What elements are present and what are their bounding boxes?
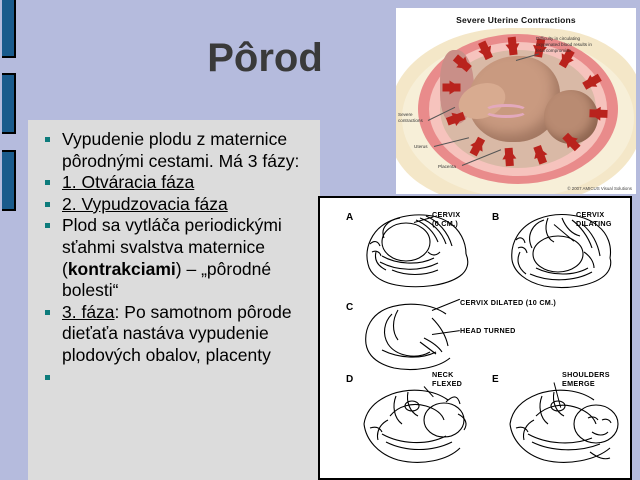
labor-stages-diagram: A CERVIX (0 CM.) B CERVIX DILATING [318,196,632,480]
list-item: Plod sa vytláča periodickými sťahmi sval… [40,215,316,301]
accent-bar-1 [2,0,16,58]
annotation-placenta: Placenta [438,164,456,170]
figure-letter-b: B [492,212,499,223]
slide-title: Pôrod [120,38,410,78]
figure-letter-c: C [346,302,353,313]
contraction-arrow-icon [589,106,600,120]
accent-bar-3 [2,150,16,211]
copyright-notice: © 2007 AMICUS Visual Solutions [567,186,632,191]
image-heading: Severe Uterine Contractions [396,15,636,25]
figure-c-label-cervix: CERVIX DILATED (10 CM.) [460,298,556,307]
figure-d-drawing [360,374,476,470]
bullet-text: 2. Vypudzovacia fáza [62,194,228,214]
content-box: Vypudenie plodu z maternice pôrodnými ce… [28,120,320,480]
list-item: 2. Vypudzovacia fáza [40,194,316,216]
figure-letter-d: D [346,374,353,385]
uterine-contractions-image: Severe Uterine Contractions Difficulty i… [396,8,636,194]
list-item: 1. Otváracia fáza [40,172,316,194]
contraction-arrow-icon [502,148,517,160]
umbilical-cord-shape [484,104,528,118]
bullet-text-underline: 3. fáza [62,302,115,322]
figure-letter-a: A [346,212,353,223]
contraction-arrow-icon [505,43,520,55]
bullet-list: Vypudenie plodu z maternice pôrodnými ce… [40,129,316,367]
list-item: 3. fáza: Po samotnom pôrode dieťaťa nast… [40,302,316,367]
bullet-text: Vypudenie plodu z maternice pôrodnými ce… [62,129,299,171]
figure-b-drawing [506,208,616,290]
bullet-text-bold: kontrakciami [68,259,176,279]
annotation-severe-contractions: Severe contractions [398,112,428,124]
annotation-uterus: Uterus [414,144,428,150]
list-item: Vypudenie plodu z maternice pôrodnými ce… [40,129,316,172]
figure-e-drawing [506,374,624,470]
accent-bar-2 [2,73,16,134]
contraction-arrow-icon [450,81,461,95]
annotation-fetal-compromise: Difficulty in circulating oxygenated blo… [536,36,598,54]
bullet-text: 1. Otváracia fáza [62,172,194,192]
figure-letter-e: E [492,374,499,385]
figure-c-drawing [362,298,472,374]
